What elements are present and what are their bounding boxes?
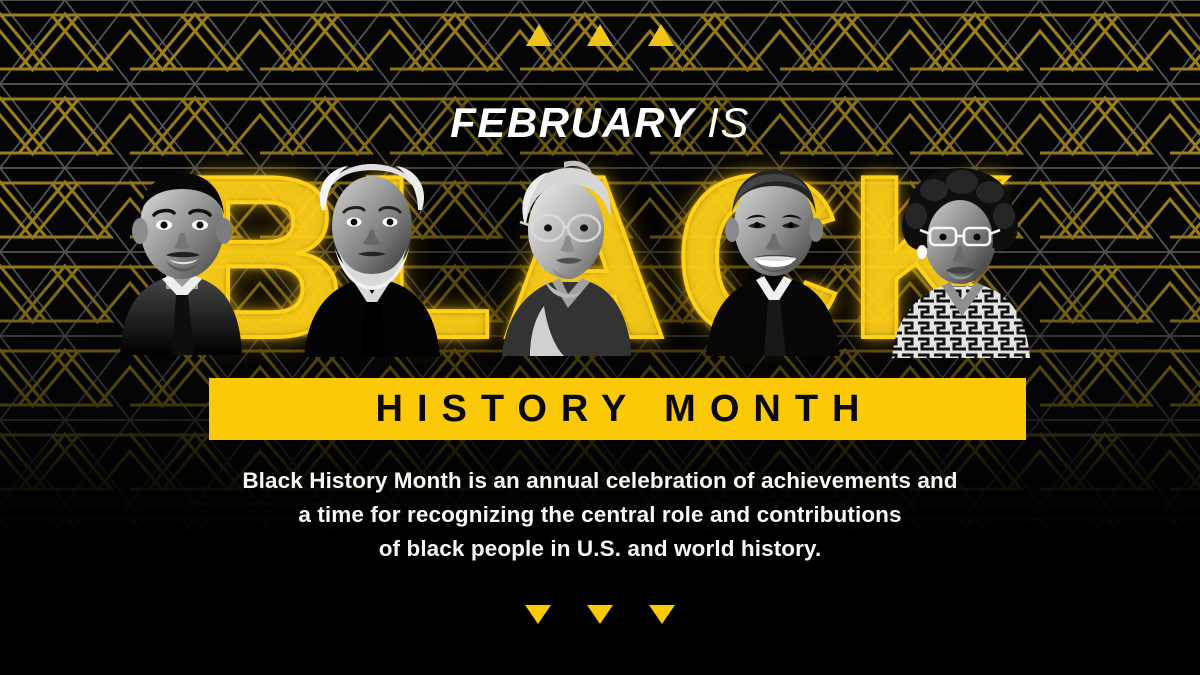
description-line-1: Black History Month is an annual celebra… [0,464,1200,498]
accent-triangles [526,24,674,46]
description-line-2: a time for recognizing the central role … [0,498,1200,532]
history-month-banner: HISTORY MONTH [209,378,1026,440]
triangle-down-icon [525,605,551,624]
black-history-month-poster: FEBRUARY IS BLACK [0,0,1200,675]
triangle-down-icon [587,605,613,624]
bottom-triangle-ornaments [0,605,1200,624]
portrait-martin-luther-king-jr [110,155,250,355]
black-wordmark-group: BLACK [0,150,1200,365]
portrait-woman-with-glasses [486,156,631,356]
triangle-down-icon [649,605,675,624]
portrait-shirley-chisholm [886,160,1031,358]
portrait-frederick-douglass [300,152,440,357]
description-paragraph: Black History Month is an annual celebra… [0,464,1200,566]
description-line-3: of black people in U.S. and world histor… [0,532,1200,566]
portrait-barack-obama [700,154,840,356]
history-month-text: HISTORY MONTH [362,388,874,431]
